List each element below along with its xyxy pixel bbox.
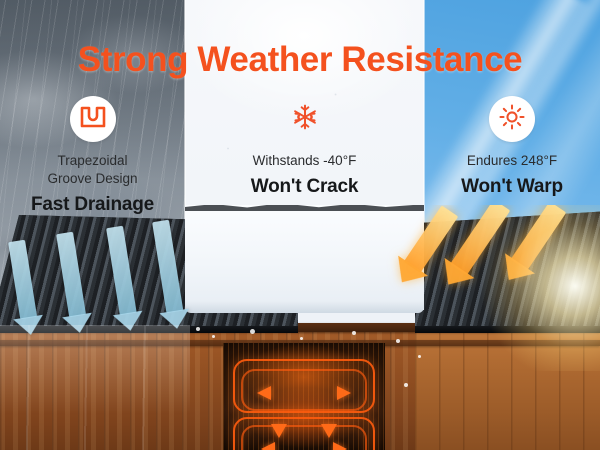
snowflake-icon [291,103,319,136]
feature-fast-drainage: Trapezoidal Groove Design Fast Drainage [0,96,185,216]
feature-headline: Fast Drainage [31,194,154,216]
sun-icon [499,104,525,135]
feature-subtext: Withstands -40°F [253,152,357,170]
weather-resistance-poster: Strong Weather Resistance Trapezoidal Gr… [0,0,600,450]
feature-wont-warp: Endures 248°F Won't Warp [424,96,600,216]
trapezoidal-groove-icon [80,106,106,133]
feature-headline: Won't Crack [251,176,359,198]
poster-content: Strong Weather Resistance Trapezoidal Gr… [0,0,600,450]
icon-badge [489,96,535,142]
feature-list: Trapezoidal Groove Design Fast Drainage [0,96,600,216]
feature-subtext: Endures 248°F [467,152,557,170]
feature-wont-crack: Withstands -40°F Won't Crack [185,96,424,216]
icon-badge [282,96,328,142]
feature-subtext: Trapezoidal Groove Design [47,152,137,188]
page-title: Strong Weather Resistance [0,42,600,77]
feature-headline: Won't Warp [461,176,563,198]
icon-badge [70,96,116,142]
